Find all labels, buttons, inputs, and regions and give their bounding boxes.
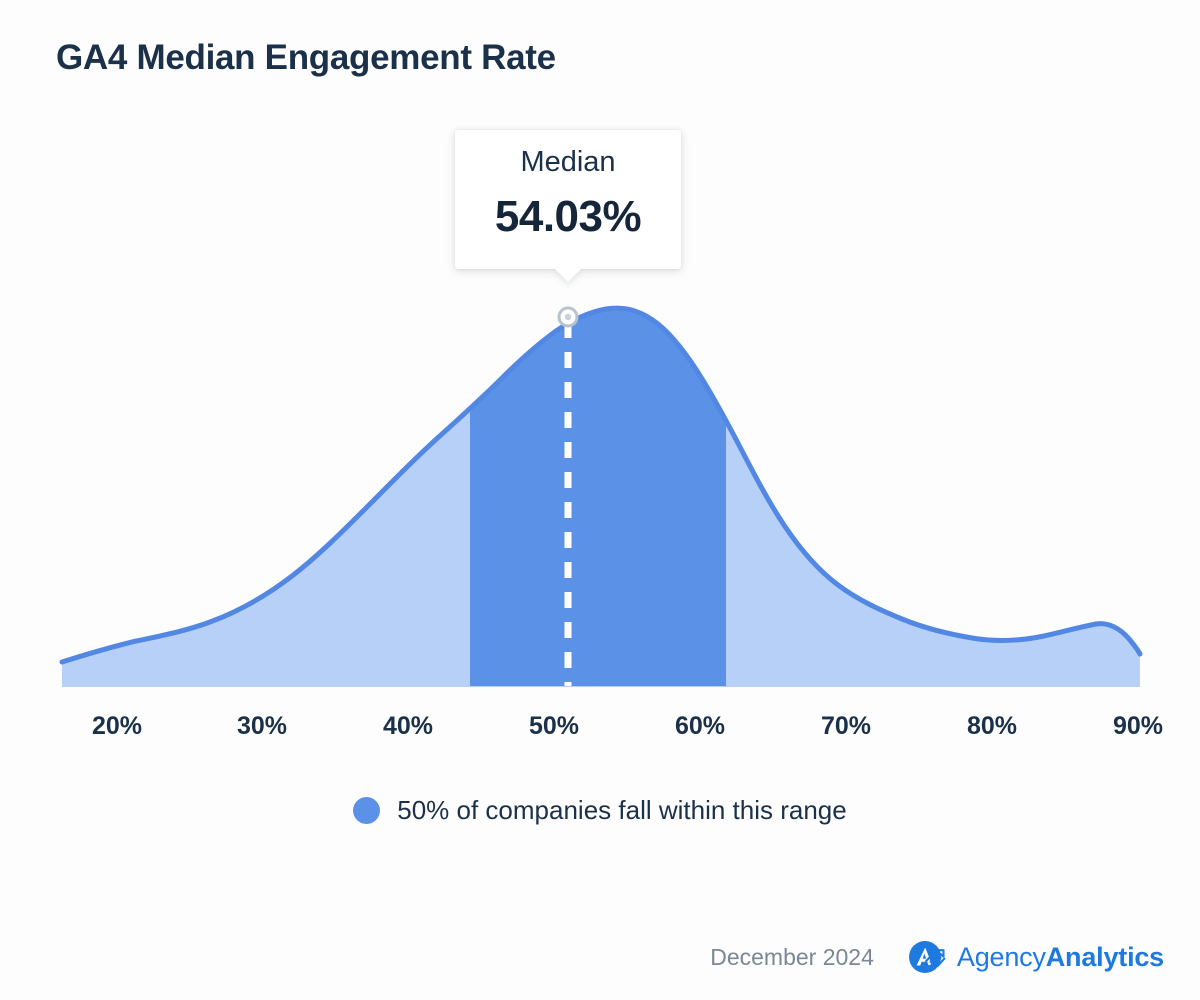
x-tick-label-40: 40% (383, 712, 433, 741)
footer-date: December 2024 (710, 944, 874, 971)
median-tooltip-value: 54.03% (455, 192, 681, 242)
legend-swatch-icon (353, 797, 380, 824)
median-tooltip-label: Median (455, 146, 681, 179)
brand-wordmark-first: Agency (957, 942, 1046, 972)
x-tick-label-50: 50% (529, 712, 579, 741)
x-tick-label-90: 90% (1113, 712, 1163, 741)
brand-wordmark-second: Analytics (1046, 942, 1164, 972)
tooltip-pointer-icon (554, 268, 582, 282)
x-tick-label-60: 60% (675, 712, 725, 741)
median-point-marker-core (565, 314, 571, 320)
x-tick-label-30: 30% (237, 712, 287, 741)
density-curve-svg (0, 0, 1200, 760)
x-tick-label-20: 20% (92, 712, 142, 741)
chart-card: GA4 Median Engagement Rate (0, 0, 1200, 1000)
brand-wordmark: AgencyAnalytics (957, 942, 1164, 973)
chart-legend: 50% of companies fall within this range (0, 795, 1200, 826)
x-tick-label-70: 70% (821, 712, 871, 741)
density-chart-plot-area: Median 54.03% (0, 0, 1200, 760)
brand-lockup[interactable]: AgencyAnalytics (906, 936, 1164, 978)
median-tooltip: Median 54.03% (455, 130, 681, 269)
x-axis: 20% 30% 40% 50% 60% 70% 80% 90% (0, 712, 1200, 756)
agencyanalytics-logo-icon (906, 936, 948, 978)
chart-footer: December 2024 AgencyAnalytics (710, 936, 1164, 978)
x-tick-label-80: 80% (967, 712, 1017, 741)
legend-label: 50% of companies fall within this range (397, 795, 846, 826)
